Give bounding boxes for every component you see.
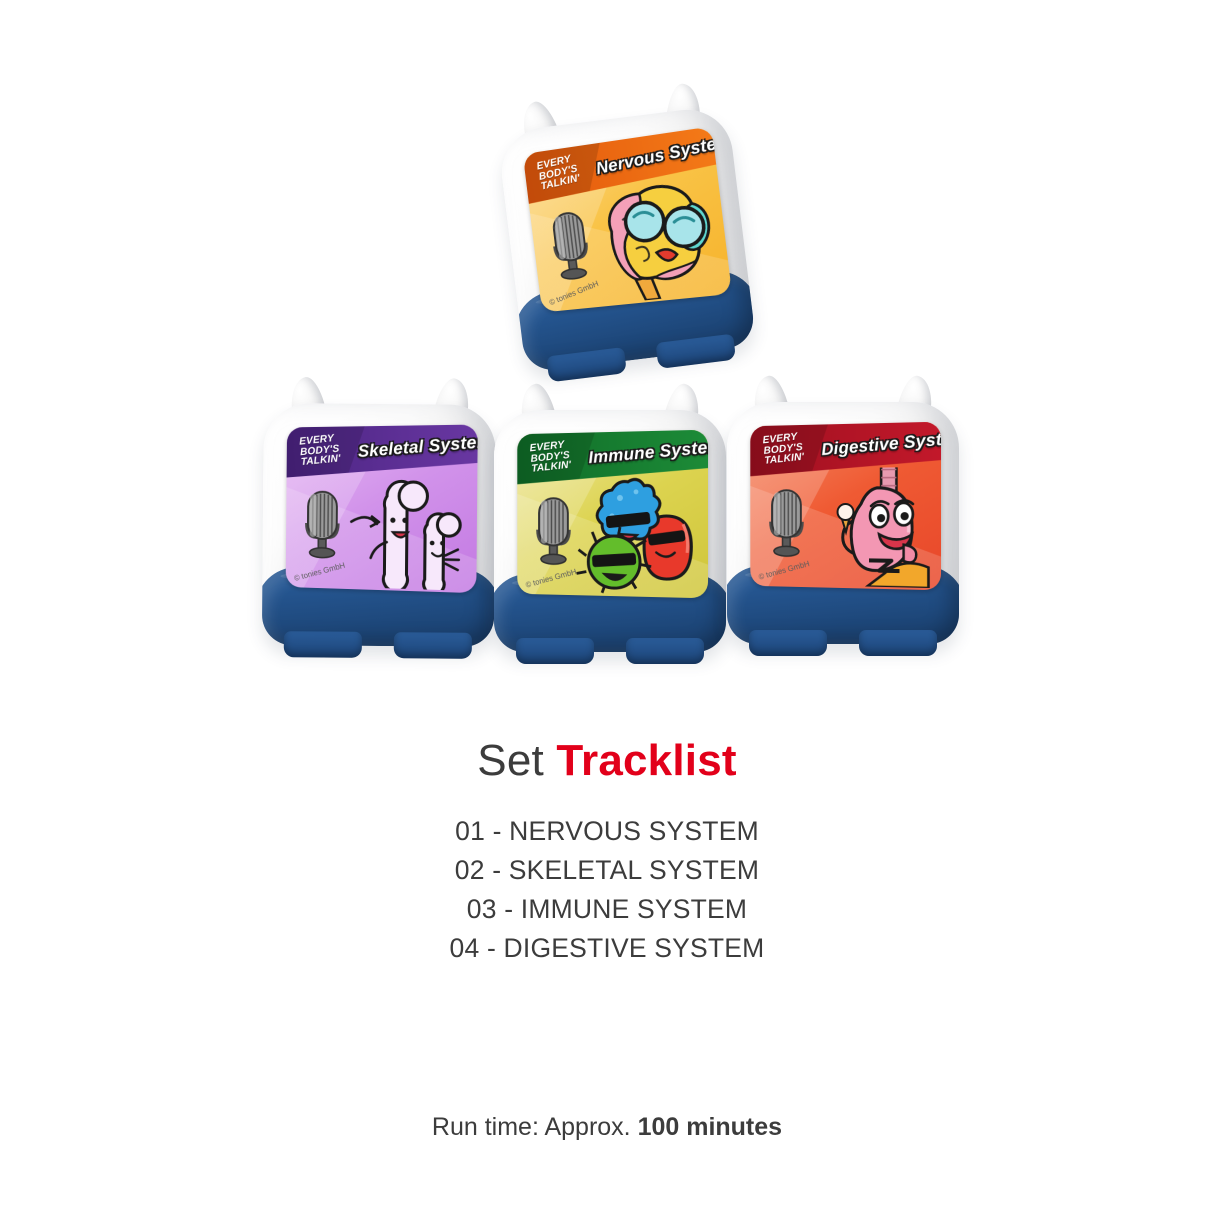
figurine-foot-left [516,638,594,664]
runtime-value: 100 minutes [638,1113,783,1141]
microphone-icon [301,488,344,561]
figurine-foot-left [284,631,362,658]
microphone-icon [765,486,807,559]
product-photo-scene: EVERY BODY'S TALKIN' Nervous System [0,0,1214,700]
tonie-figurine-immune[interactable]: EVERY BODY'S TALKIN' Immune System [494,384,726,652]
cell-characters-icon [575,475,706,596]
brand-logo-everybodys-talkin: EVERY BODY'S TALKIN' [299,433,341,468]
figurine-foot-right [394,632,472,659]
runtime-line: Run time: Approx. 100 minutes [0,1113,1214,1142]
figurine-foot-right [859,630,937,656]
page-title-plain: Set [477,736,556,785]
stomach-character-icon [808,467,939,588]
microphone-icon [532,494,574,567]
page-title: Set Tracklist [0,736,1214,786]
runtime-prefix: Run time: Approx. [432,1113,638,1141]
tonie-figurine-nervous[interactable]: EVERY BODY'S TALKIN' Nervous System [494,79,757,373]
figurine-label-skeletal: EVERY BODY'S TALKIN' Skeletal System [286,425,478,594]
page-title-accent: Tracklist [556,736,736,785]
tonie-figurine-digestive[interactable]: EVERY BODY'S TALKIN' Digestive System [727,376,959,644]
bone-characters-icon [343,470,475,591]
brain-character-icon [585,172,730,305]
figurine-foot-right [626,638,704,664]
figurine-label-digestive: EVERY BODY'S TALKIN' Digestive System [750,422,941,591]
figurine-label-nervous: EVERY BODY'S TALKIN' Nervous System [523,126,732,312]
tracklist-section: Set Tracklist 01 - NERVOUS SYSTEM 02 - S… [0,736,1214,968]
figurine-foot-left [749,630,827,656]
track-list: 01 - NERVOUS SYSTEM 02 - SKELETAL SYSTEM… [0,812,1214,968]
brand-logo-everybodys-talkin: EVERY BODY'S TALKIN' [762,431,804,466]
track-item: 02 - SKELETAL SYSTEM [0,851,1214,890]
track-item: 04 - DIGESTIVE SYSTEM [0,929,1214,968]
figurine-label-immune: EVERY BODY'S TALKIN' Immune System [517,430,708,599]
track-item: 03 - IMMUNE SYSTEM [0,890,1214,929]
brand-logo-everybodys-talkin: EVERY BODY'S TALKIN' [529,439,571,474]
tonie-figurine-skeletal[interactable]: EVERY BODY'S TALKIN' Skeletal System [262,377,496,647]
track-item: 01 - NERVOUS SYSTEM [0,812,1214,851]
